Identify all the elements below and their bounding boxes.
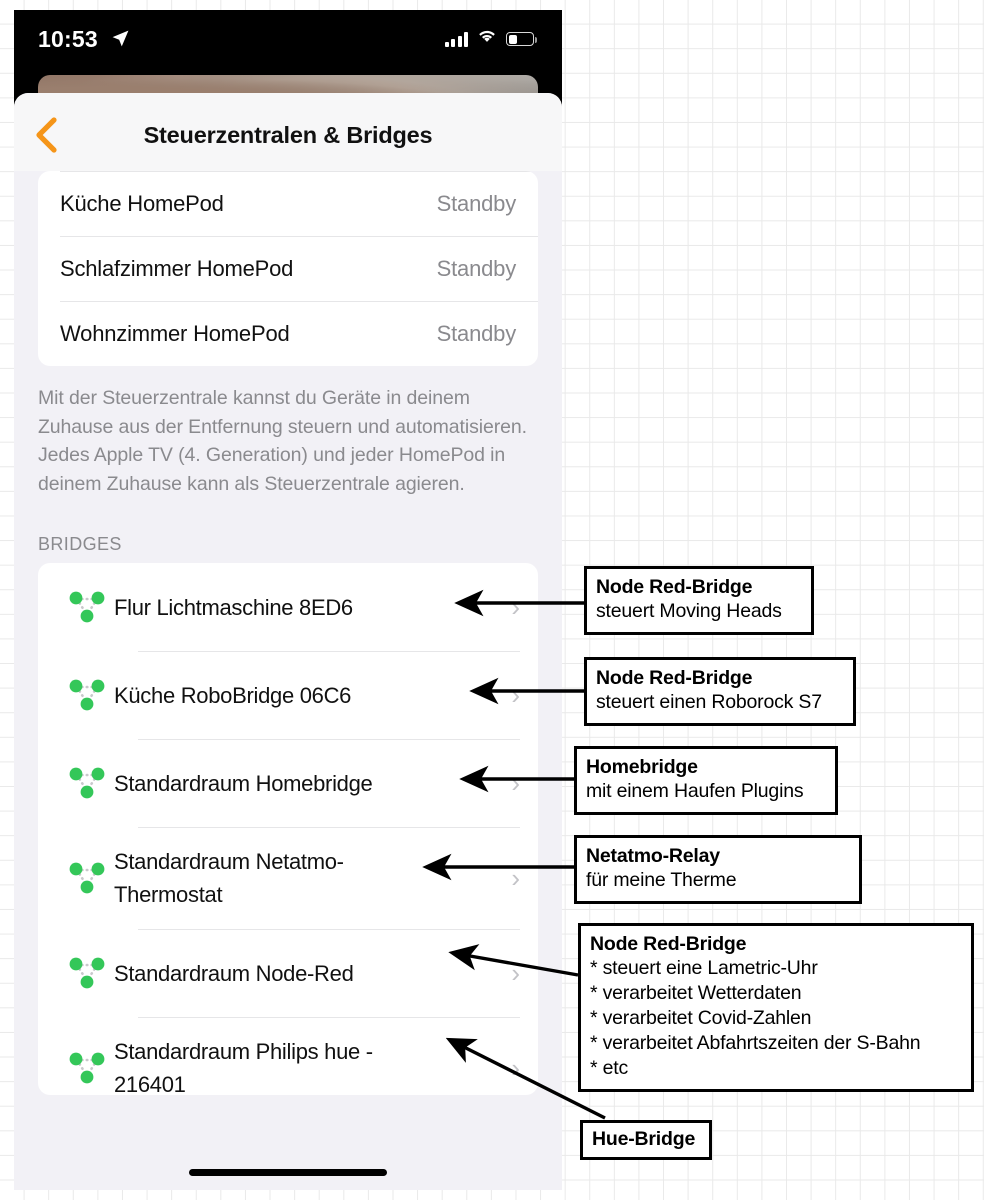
callout-title: Netatmo-Relay (586, 844, 850, 868)
bridges-section-header: BRIDGES (38, 534, 122, 555)
hub-name: Schlafzimmer HomePod (60, 256, 293, 282)
table-row[interactable]: Schlafzimmer HomePod Standby (38, 236, 538, 301)
bridge-nodes-icon (60, 953, 114, 993)
status-bar: 10:53 (14, 10, 562, 68)
modal-sheet: Steuerzentralen & Bridges Küche HomePod … (14, 93, 562, 1190)
hub-name: Wohnzimmer HomePod (60, 321, 290, 347)
page-title: Steuerzentralen & Bridges (14, 122, 562, 149)
callout-title: Homebridge (586, 755, 826, 779)
hubs-footer-text: Mit der Steuerzentrale kannst du Geräte … (38, 384, 528, 498)
callout-line: * verarbeitet Covid-Zahlen (590, 1006, 962, 1031)
hubs-card: Küche HomePod Standby Schlafzimmer HomeP… (38, 171, 538, 366)
callout-line: * verarbeitet Abfahrtszeiten der S-Bahn (590, 1031, 962, 1056)
chevron-right-icon[interactable]: › (511, 594, 520, 620)
callout-title: Node Red-Bridge (590, 932, 962, 956)
list-item[interactable]: Küche RoboBridge 06C6 › (38, 651, 538, 739)
status-indicators (445, 29, 535, 49)
list-item[interactable]: Standardraum Homebridge › (38, 739, 538, 827)
bridge-nodes-icon (60, 587, 114, 627)
bridge-name: Flur Lichtmaschine 8ED6 (114, 573, 353, 642)
chevron-right-icon[interactable]: › (511, 865, 520, 891)
callout-line: mit einem Haufen Plugins (586, 779, 826, 804)
hub-status: Standby (437, 321, 516, 347)
location-arrow-icon (111, 29, 130, 53)
list-item[interactable]: Flur Lichtmaschine 8ED6 › (38, 563, 538, 651)
bridge-nodes-icon (60, 858, 114, 898)
hub-name: Küche HomePod (60, 191, 224, 217)
bridge-name: Küche RoboBridge 06C6 (114, 661, 351, 730)
annotation-callout: Node Red-Bridge steuert Moving Heads (584, 566, 814, 635)
chevron-right-icon[interactable]: › (511, 960, 520, 986)
callout-title: Hue-Bridge (592, 1127, 700, 1151)
bridge-nodes-icon (60, 1048, 114, 1088)
bridge-nodes-icon (60, 675, 114, 715)
phone-screenshot: 10:53 Steuerz (14, 10, 562, 1190)
hub-status: Standby (437, 191, 516, 217)
nav-bar: Steuerzentralen & Bridges (14, 93, 562, 171)
list-item[interactable]: Standardraum Netatmo-Thermostat › (38, 827, 538, 929)
annotation-callout: Hue-Bridge (580, 1120, 712, 1160)
callout-line: * etc (590, 1056, 962, 1081)
list-item[interactable]: Standardraum Node-Red › (38, 929, 538, 1017)
callout-line: * verarbeitet Wetterdaten (590, 981, 962, 1006)
bridge-name: Standardraum Node-Red (114, 939, 354, 1008)
annotation-callout: Homebridge mit einem Haufen Plugins (574, 746, 838, 815)
cellular-signal-icon (445, 32, 469, 47)
table-row[interactable]: Küche HomePod Standby (38, 171, 538, 236)
bridges-card: Flur Lichtmaschine 8ED6 › Küche RoboBrid… (38, 563, 538, 1095)
callout-title: Node Red-Bridge (596, 666, 844, 690)
callout-line: * steuert eine Lametric-Uhr (590, 956, 962, 981)
wifi-icon (477, 29, 497, 49)
hub-status: Standby (437, 256, 516, 282)
callout-line: steuert Moving Heads (596, 599, 802, 624)
table-row[interactable]: Wohnzimmer HomePod Standby (38, 301, 538, 366)
annotation-callout: Node Red-Bridge steuert einen Roborock S… (584, 657, 856, 726)
callout-line: steuert einen Roborock S7 (596, 690, 844, 715)
bridge-name: Standardraum Homebridge (114, 749, 372, 818)
annotation-callout: Node Red-Bridge * steuert eine Lametric-… (578, 923, 974, 1092)
callout-line: für meine Therme (586, 868, 850, 893)
bridge-nodes-icon (60, 763, 114, 803)
annotation-callout: Netatmo-Relay für meine Therme (574, 835, 862, 904)
sheet-body: Küche HomePod Standby Schlafzimmer HomeP… (14, 171, 562, 1190)
bridge-name: Standardraum Netatmo-Thermostat (114, 827, 364, 929)
battery-icon (506, 32, 534, 46)
callout-title: Node Red-Bridge (596, 575, 802, 599)
bridge-name: Standardraum Philips hue - 216401 (114, 1017, 384, 1095)
list-item[interactable]: Standardraum Philips hue - 216401 › (38, 1017, 538, 1095)
chevron-right-icon[interactable]: › (511, 1055, 520, 1081)
chevron-right-icon[interactable]: › (511, 770, 520, 796)
status-time: 10:53 (38, 26, 98, 53)
chevron-right-icon[interactable]: › (511, 682, 520, 708)
home-indicator[interactable] (189, 1169, 387, 1176)
